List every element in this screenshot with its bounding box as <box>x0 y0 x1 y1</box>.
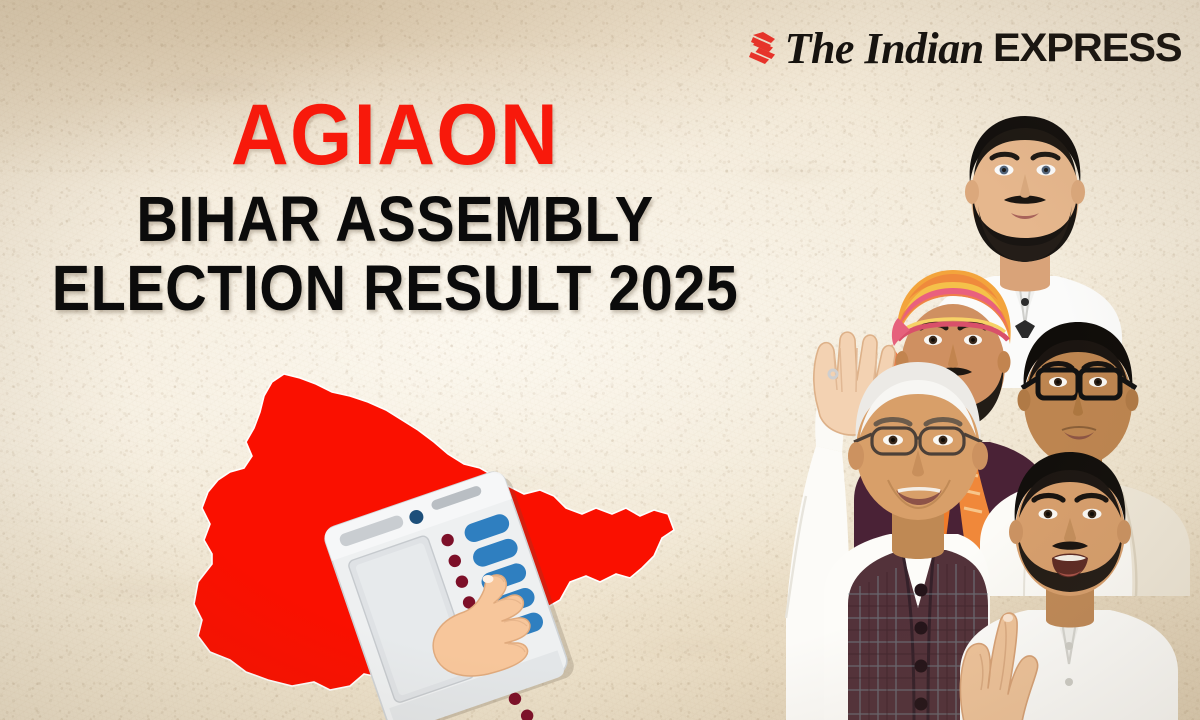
headline-line-2: BIHAR ASSEMBLY <box>40 187 751 252</box>
politician-collage <box>730 0 1200 720</box>
masthead-logo[interactable]: The Indian EXPRESS <box>749 27 1174 70</box>
election-result-graphic-card: The Indian EXPRESS AGIAON BIHAR ASSEMBLY… <box>0 0 1200 720</box>
headline-block: AGIAON BIHAR ASSEMBLY ELECTION RESULT 20… <box>0 96 790 322</box>
masthead-the-indian: The Indian <box>785 27 984 70</box>
masthead-express: EXPRESS <box>993 29 1182 68</box>
portrait-tejashwi-yadav <box>942 432 1200 720</box>
eyeglasses-icon <box>1022 370 1136 398</box>
constituency-name: AGIAON <box>28 96 763 175</box>
indian-express-flame-mark-icon <box>749 31 777 67</box>
electronic-voting-machine <box>318 462 618 712</box>
headline-line-3: ELECTION RESULT 2025 <box>40 256 751 321</box>
